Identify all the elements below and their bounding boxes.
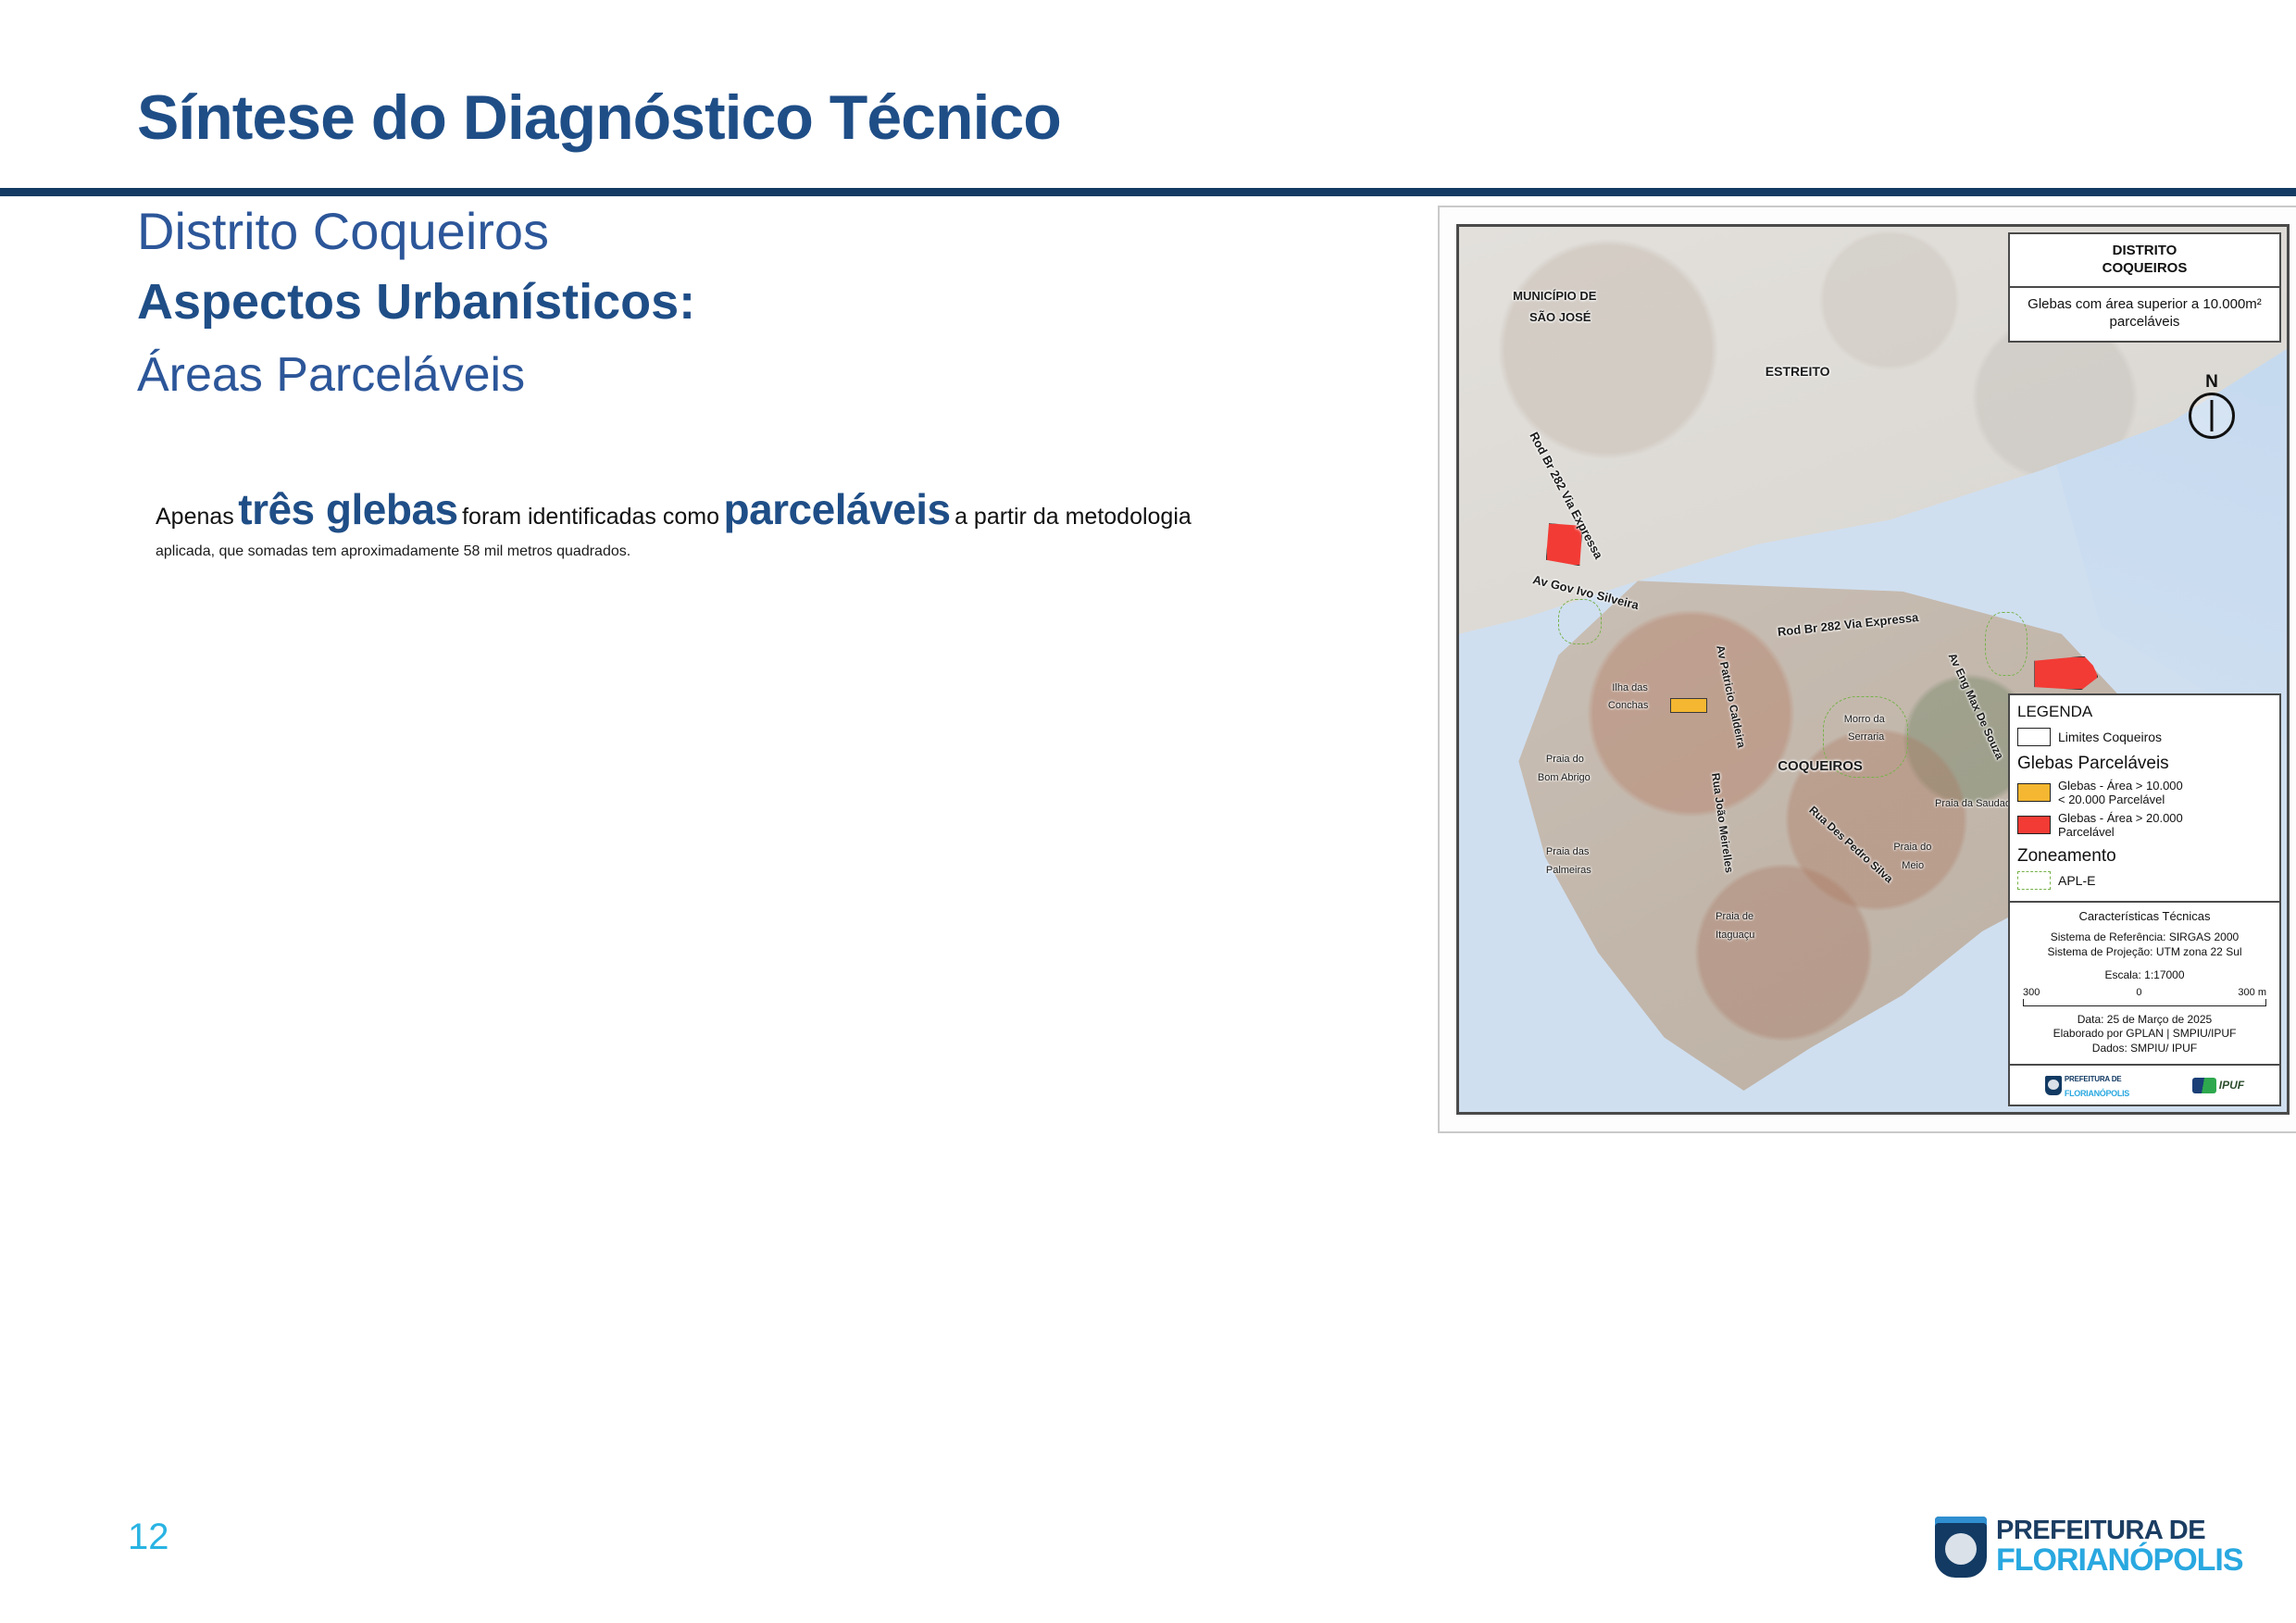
paragraph-highlight-parcelaveis: parceláveis [723,485,950,533]
map-legend-box: LEGENDA Limites Coqueiros Glebas Parcelá… [2008,693,2281,1106]
map-title-box-heading: DISTRITO COQUEIROS [2010,234,2279,288]
legend-label-limits: Limites Coqueiros [2058,730,2162,745]
map-label: Praia do [1546,754,1584,765]
paragraph-text-aplicada: aplicada, que [156,543,243,559]
prefeitura-shield-icon [2045,1076,2062,1095]
map-gleba-yellow-center[interactable] [1670,698,1707,713]
technical-reference-system: Sistema de Referência: SIRGAS 2000 [2015,930,2274,945]
page-title: Síntese do Diagnóstico Técnico [137,81,1061,154]
map-apl-zone-east [1985,612,2028,676]
map-label: Ilha das [1612,682,1648,693]
technical-projection: Sistema de Projeção: UTM zona 22 Sul [2015,945,2274,960]
technical-author: Elaborado por GPLAN | SMPIU/IPUF [2015,1027,2274,1042]
legend-swatch-apl-e-icon [2017,871,2051,890]
ipuf-wordmark: IPUF [2219,1079,2244,1092]
map-label: MUNICÍPIO DE [1513,289,1596,303]
map-title-box: DISTRITO COQUEIROS Glebas com área super… [2008,232,2281,343]
legend-heading-glebas: Glebas Parceláveis [2017,754,2272,774]
prefeitura-line1: PREFEITURA DE [2065,1075,2122,1083]
technical-footer: Data: 25 de Março de 2025 Elaborado por … [2015,1013,2274,1056]
technical-heading: Características Técnicas [2015,909,2274,923]
scale-bar-left: 300 [2023,987,2040,998]
legend-swatch-yellow-icon [2017,783,2051,802]
map-label: Praia da Saudade [1935,798,2016,809]
paragraph-highlight-tres-glebas: três glebas [238,485,457,533]
legend-section: LEGENDA Limites Coqueiros Glebas Parcelá… [2010,695,2279,901]
scale-bar-numbers: 300 0 300 m [2023,987,2266,998]
subtitle-district: Distrito Coqueiros [137,201,549,261]
legend-label-gleba-yellow-line1: Glebas - Área > 10.000 [2058,779,2183,793]
map-apl-zone-west [1558,599,1602,645]
legend-label-gleba-yellow-line2: < 20.000 Parcelável [2058,793,2165,806]
body-paragraph-line1: Apenas três glebas foram identificadas c… [156,480,1359,540]
map-figure: MUNICÍPIO DESÃO JOSÉESTREITORod Br 282 V… [1438,206,2296,1133]
scale-bar-graphic [2023,999,2266,1006]
legend-label-gleba-red: Glebas - Área > 20.000 Parcelável [2058,811,2183,840]
map-label: Morro da [1844,714,1885,725]
legend-label-gleba-red-line1: Glebas - Área > 20.000 [2058,811,2183,825]
map-canvas[interactable]: MUNICÍPIO DESÃO JOSÉESTREITORod Br 282 V… [1456,224,2290,1115]
map-label: Palmeiras [1546,865,1591,876]
map-ipuf-logo: IPUF [2192,1078,2244,1093]
prefeitura-wordmark: PREFEITURA DE FLORIANÓPOLIS [2065,1070,2129,1100]
legend-label-apl-e: APL-E [2058,873,2095,889]
footer-logo-line2: FLORIANÓPOLIS [1996,1542,2243,1578]
map-title-box-description: Glebas com área superior a 10.000m² parc… [2010,288,2279,341]
technical-scale: Escala: 1:17000 [2015,968,2274,981]
legend-title: LEGENDA [2017,703,2272,721]
paragraph-text-metodologia: a partir da metodologia [955,504,1192,530]
map-label: Conchas [1608,700,1648,711]
footer-logo-wordmark: PREFEITURA DE FLORIANÓPOLIS [1996,1517,2243,1577]
north-arrow: N [2188,373,2236,439]
map-logo-row: PREFEITURA DE FLORIANÓPOLIS IPUF [2010,1064,2279,1105]
map-label: Serraria [1848,731,1884,743]
map-label: SÃO JOSÉ [1529,310,1591,324]
technical-date: Data: 25 de Março de 2025 [2015,1013,2274,1028]
map-label: ESTREITO [1766,364,1830,379]
map-technical-box: Características Técnicas Sistema de Refe… [2010,901,2279,1064]
map-label: Itaguaçu [1716,930,1754,941]
paragraph-text-foram-identificadas: foram identificadas como [462,504,719,530]
scale-bar-mid: 0 [2136,987,2141,998]
map-label: Meio [1902,860,1924,871]
scale-bar: 300 0 300 m [2023,987,2266,1006]
scale-bar-right: 300 m [2238,987,2266,998]
map-label: COQUEIROS [1778,758,1863,774]
paragraph-highlight-metros: metros quadrados. [507,543,630,559]
north-arrow-label: N [2188,373,2236,391]
footer-logo-line1: PREFEITURA DE [1996,1516,2205,1545]
legend-heading-zoneamento: Zoneamento [2017,846,2272,867]
paragraph-text-apenas: Apenas [156,504,234,530]
map-prefeitura-logo: PREFEITURA DE FLORIANÓPOLIS [2045,1070,2129,1100]
footer-prefeitura-logo: PREFEITURA DE FLORIANÓPOLIS [1935,1517,2243,1578]
legend-label-gleba-red-line2: Parcelável [2058,825,2115,839]
legend-row-apl-e: APL-E [2017,871,2272,890]
body-paragraph-line2: aplicada, que somadas tem aproximadament… [156,542,1387,562]
technical-source: Dados: SMPIU/ IPUF [2015,1042,2274,1056]
map-label: Praia das [1546,846,1589,857]
map-title-line2: COQUEIROS [2015,260,2274,278]
subtitle-topic: Aspectos Urbanísticos: [137,273,695,331]
legend-swatch-limits-icon [2017,728,2051,746]
header-divider [0,188,2296,196]
legend-swatch-red-icon [2017,816,2051,834]
legend-row-gleba-yellow: Glebas - Área > 10.000 < 20.000 Parceláv… [2017,779,2272,807]
ipuf-mark-icon [2192,1078,2216,1093]
legend-row-limits: Limites Coqueiros [2017,728,2272,746]
page-number: 12 [128,1517,169,1558]
map-label: Praia de [1716,911,1753,922]
legend-label-gleba-yellow: Glebas - Área > 10.000 < 20.000 Parceláv… [2058,779,2183,807]
map-label: Bom Abrigo [1538,772,1591,783]
footer-shield-icon [1935,1517,1987,1578]
legend-row-gleba-red: Glebas - Área > 20.000 Parcelável [2017,811,2272,840]
map-title-line1: DISTRITO [2015,243,2274,260]
paragraph-highlight-somadas: somadas tem aproximadamente 58 mil [248,543,504,559]
prefeitura-line2: FLORIANÓPOLIS [2065,1089,2129,1098]
compass-icon [2189,393,2235,439]
map-label: Praia do [1893,842,1931,853]
subtitle-theme: Áreas Parceláveis [137,347,525,403]
